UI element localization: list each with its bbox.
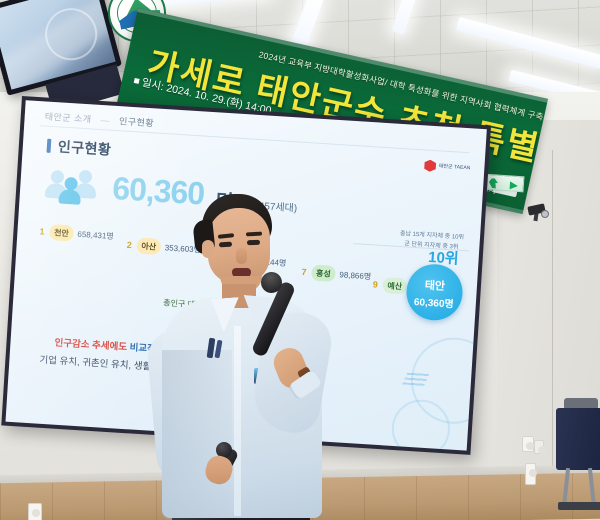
rank-city-name: 천안 bbox=[49, 224, 74, 241]
presenter-eye bbox=[247, 240, 260, 245]
taean-county-logo: 태안군 TAEAN bbox=[424, 159, 471, 174]
presenter-nose bbox=[236, 248, 247, 264]
county-logo-text: 태안군 TAEAN bbox=[439, 163, 471, 171]
county-logo-icon bbox=[424, 159, 437, 172]
running-man-icon bbox=[489, 178, 499, 189]
shirt-shadow bbox=[162, 350, 232, 520]
rank-item: 1 천안 658,431명 bbox=[39, 223, 114, 244]
people-group-icon bbox=[47, 168, 105, 205]
wall-seam bbox=[552, 150, 553, 480]
presenter-eyebrow bbox=[246, 232, 262, 237]
rank-number: 2 bbox=[127, 240, 133, 250]
taean-value: 60,360명 bbox=[405, 293, 462, 311]
equipment-body bbox=[556, 408, 600, 470]
lecture-room-photo: 2024년 교육부 지방대학활성화사업/ 대학 특성화를 위한 지역사회 협력체… bbox=[0, 0, 600, 520]
emergency-exit-sign bbox=[483, 174, 524, 193]
breadcrumb-current: 인구현황 bbox=[119, 116, 155, 128]
wall-power-outlet[interactable] bbox=[522, 436, 534, 452]
rank-city-value: 98,866명 bbox=[339, 269, 371, 282]
rank-number: 1 bbox=[39, 226, 45, 236]
rank-city-name: 예산 bbox=[382, 277, 407, 294]
breadcrumb-root: 태안군 소개 bbox=[44, 111, 91, 124]
wall-power-outlet[interactable] bbox=[525, 463, 536, 485]
equipment-base bbox=[558, 502, 600, 510]
slide-section-title-text: 인구현황 bbox=[57, 138, 111, 157]
wall-power-outlet[interactable] bbox=[28, 503, 42, 520]
arrow-right-icon bbox=[510, 181, 519, 190]
shirt-placket bbox=[234, 326, 241, 516]
rank-city-value: 658,431명 bbox=[77, 228, 114, 241]
bullet-1-part-a: 인구감소 추세에도 bbox=[54, 338, 127, 354]
breadcrumb-separator: — bbox=[100, 115, 110, 126]
rank-number: 9 bbox=[373, 279, 379, 289]
wall-power-outlet[interactable] bbox=[534, 440, 544, 454]
presenter-ear bbox=[202, 240, 214, 258]
presenter bbox=[150, 180, 325, 520]
camera-lens-icon bbox=[541, 210, 549, 218]
av-equipment-stand bbox=[556, 398, 600, 508]
title-accent-bar bbox=[46, 139, 51, 153]
slide-section-title: 인구현황 bbox=[46, 136, 112, 160]
presenter-eye bbox=[219, 242, 232, 248]
security-camera bbox=[528, 205, 550, 219]
